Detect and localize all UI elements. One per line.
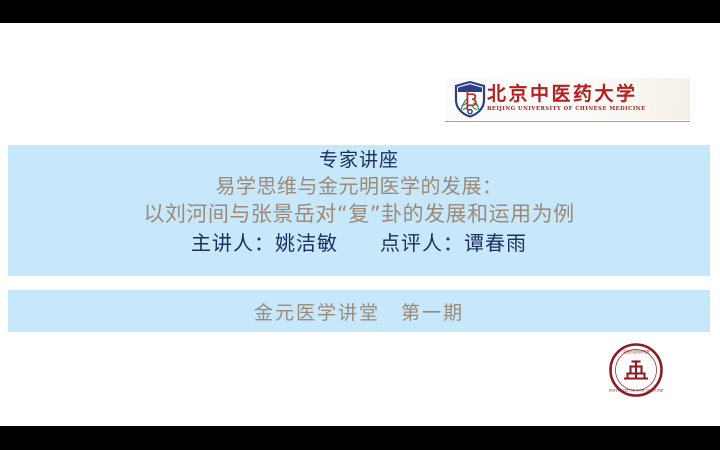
- university-name-block: 北京中医药大学 BEIJING UNIVERSITY OF CHINESE ME…: [487, 85, 646, 112]
- presentation-slide: 北京中医药大学 BEIJING UNIVERSITY OF CHINESE ME…: [0, 0, 720, 450]
- university-shield-icon: [451, 80, 489, 118]
- lecture-speakers-line: 主讲人：姚洁敏 点评人：谭春雨: [8, 228, 710, 258]
- university-name-cn: 北京中医药大学: [487, 85, 646, 104]
- title-panel: 专家讲座 易学思维与金元明医学的发展： 以刘河间与张景岳对“复”卦的发展和运用为…: [8, 145, 710, 276]
- svg-text:中医药文化研究院: 中医药文化研究院: [622, 349, 650, 354]
- series-banner: 金元医学讲堂 第一期: [8, 290, 710, 332]
- series-banner-text: 金元医学讲堂 第一期: [254, 298, 464, 325]
- lecture-category-heading: 专家讲座: [8, 148, 710, 173]
- svg-text:INSTITUTE OF TCM CULTURE: INSTITUTE OF TCM CULTURE: [609, 389, 664, 393]
- letterbox-bar-bottom: [0, 426, 720, 450]
- university-name-en: BEIJING UNIVERSITY OF CHINESE MEDICINE: [487, 107, 646, 112]
- letterbox-bar-top: [0, 0, 720, 23]
- title-lines: 专家讲座 易学思维与金元明医学的发展： 以刘河间与张景岳对“复”卦的发展和运用为…: [8, 148, 710, 258]
- lecture-title-line-2: 以刘河间与张景岳对“复”卦的发展和运用为例: [8, 200, 710, 228]
- circular-seal-icon: 中医药文化研究院 INSTITUTE OF TCM CULTURE: [608, 342, 664, 398]
- university-logo-lockup: 北京中医药大学 BEIJING UNIVERSITY OF CHINESE ME…: [445, 78, 690, 120]
- lecture-title-line-1: 易学思维与金元明医学的发展：: [8, 173, 710, 200]
- logo-underline-rule: [445, 121, 690, 122]
